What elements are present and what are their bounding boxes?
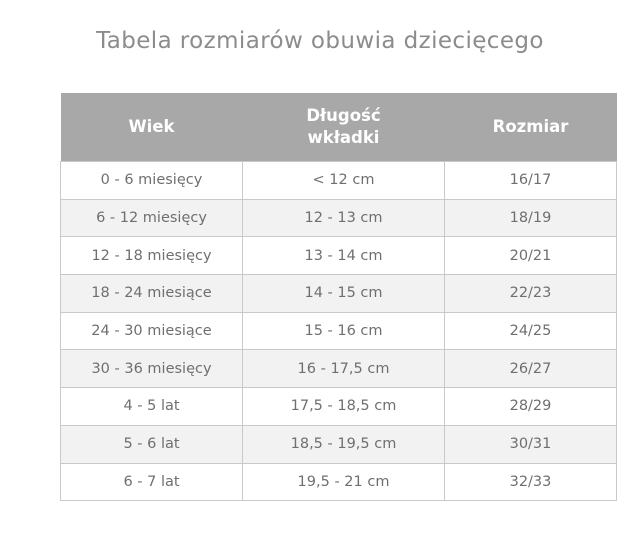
table-header: Wiek Długość wkładki Rozmiar (61, 93, 617, 162)
column-header-insole-length-line1: Długość (249, 105, 439, 127)
table-row: 6 - 7 lat 19,5 - 21 cm 32/33 (61, 463, 617, 501)
column-header-age: Wiek (61, 93, 243, 162)
cell-age: 24 - 30 miesiące (61, 312, 243, 350)
cell-age: 12 - 18 miesięcy (61, 237, 243, 275)
table-row: 24 - 30 miesiące 15 - 16 cm 24/25 (61, 312, 617, 350)
cell-length: 13 - 14 cm (243, 237, 445, 275)
page-title: Tabela rozmiarów obuwia dziecięcego (0, 28, 640, 54)
cell-length: < 12 cm (243, 162, 445, 200)
cell-length: 17,5 - 18,5 cm (243, 388, 445, 426)
cell-size: 18/19 (445, 199, 617, 237)
table-header-row: Wiek Długość wkładki Rozmiar (61, 93, 617, 162)
table-row: 5 - 6 lat 18,5 - 19,5 cm 30/31 (61, 425, 617, 463)
cell-length: 18,5 - 19,5 cm (243, 425, 445, 463)
column-header-insole-length: Długość wkładki (243, 93, 445, 162)
cell-length: 16 - 17,5 cm (243, 350, 445, 388)
column-header-size: Rozmiar (445, 93, 617, 162)
table-row: 30 - 36 miesięcy 16 - 17,5 cm 26/27 (61, 350, 617, 388)
cell-age: 6 - 7 lat (61, 463, 243, 501)
cell-length: 19,5 - 21 cm (243, 463, 445, 501)
table-row: 6 - 12 miesięcy 12 - 13 cm 18/19 (61, 199, 617, 237)
cell-size: 24/25 (445, 312, 617, 350)
size-chart-page: Tabela rozmiarów obuwia dziecięcego Wiek… (0, 0, 640, 543)
cell-size: 22/23 (445, 275, 617, 313)
cell-size: 16/17 (445, 162, 617, 200)
table-row: 12 - 18 miesięcy 13 - 14 cm 20/21 (61, 237, 617, 275)
cell-age: 6 - 12 miesięcy (61, 199, 243, 237)
size-table-container: Wiek Długość wkładki Rozmiar 0 - 6 miesi… (60, 93, 580, 501)
cell-size: 30/31 (445, 425, 617, 463)
cell-length: 12 - 13 cm (243, 199, 445, 237)
cell-length: 14 - 15 cm (243, 275, 445, 313)
table-row: 0 - 6 miesięcy < 12 cm 16/17 (61, 162, 617, 200)
cell-size: 32/33 (445, 463, 617, 501)
shoe-size-table: Wiek Długość wkładki Rozmiar 0 - 6 miesi… (60, 93, 617, 501)
cell-size: 26/27 (445, 350, 617, 388)
table-body: 0 - 6 miesięcy < 12 cm 16/17 6 - 12 mies… (61, 162, 617, 501)
table-row: 4 - 5 lat 17,5 - 18,5 cm 28/29 (61, 388, 617, 426)
cell-age: 30 - 36 miesięcy (61, 350, 243, 388)
cell-length: 15 - 16 cm (243, 312, 445, 350)
cell-size: 28/29 (445, 388, 617, 426)
cell-age: 0 - 6 miesięcy (61, 162, 243, 200)
cell-age: 18 - 24 miesiące (61, 275, 243, 313)
cell-age: 4 - 5 lat (61, 388, 243, 426)
column-header-insole-length-line2: wkładki (249, 127, 439, 149)
table-row: 18 - 24 miesiące 14 - 15 cm 22/23 (61, 275, 617, 313)
cell-size: 20/21 (445, 237, 617, 275)
cell-age: 5 - 6 lat (61, 425, 243, 463)
